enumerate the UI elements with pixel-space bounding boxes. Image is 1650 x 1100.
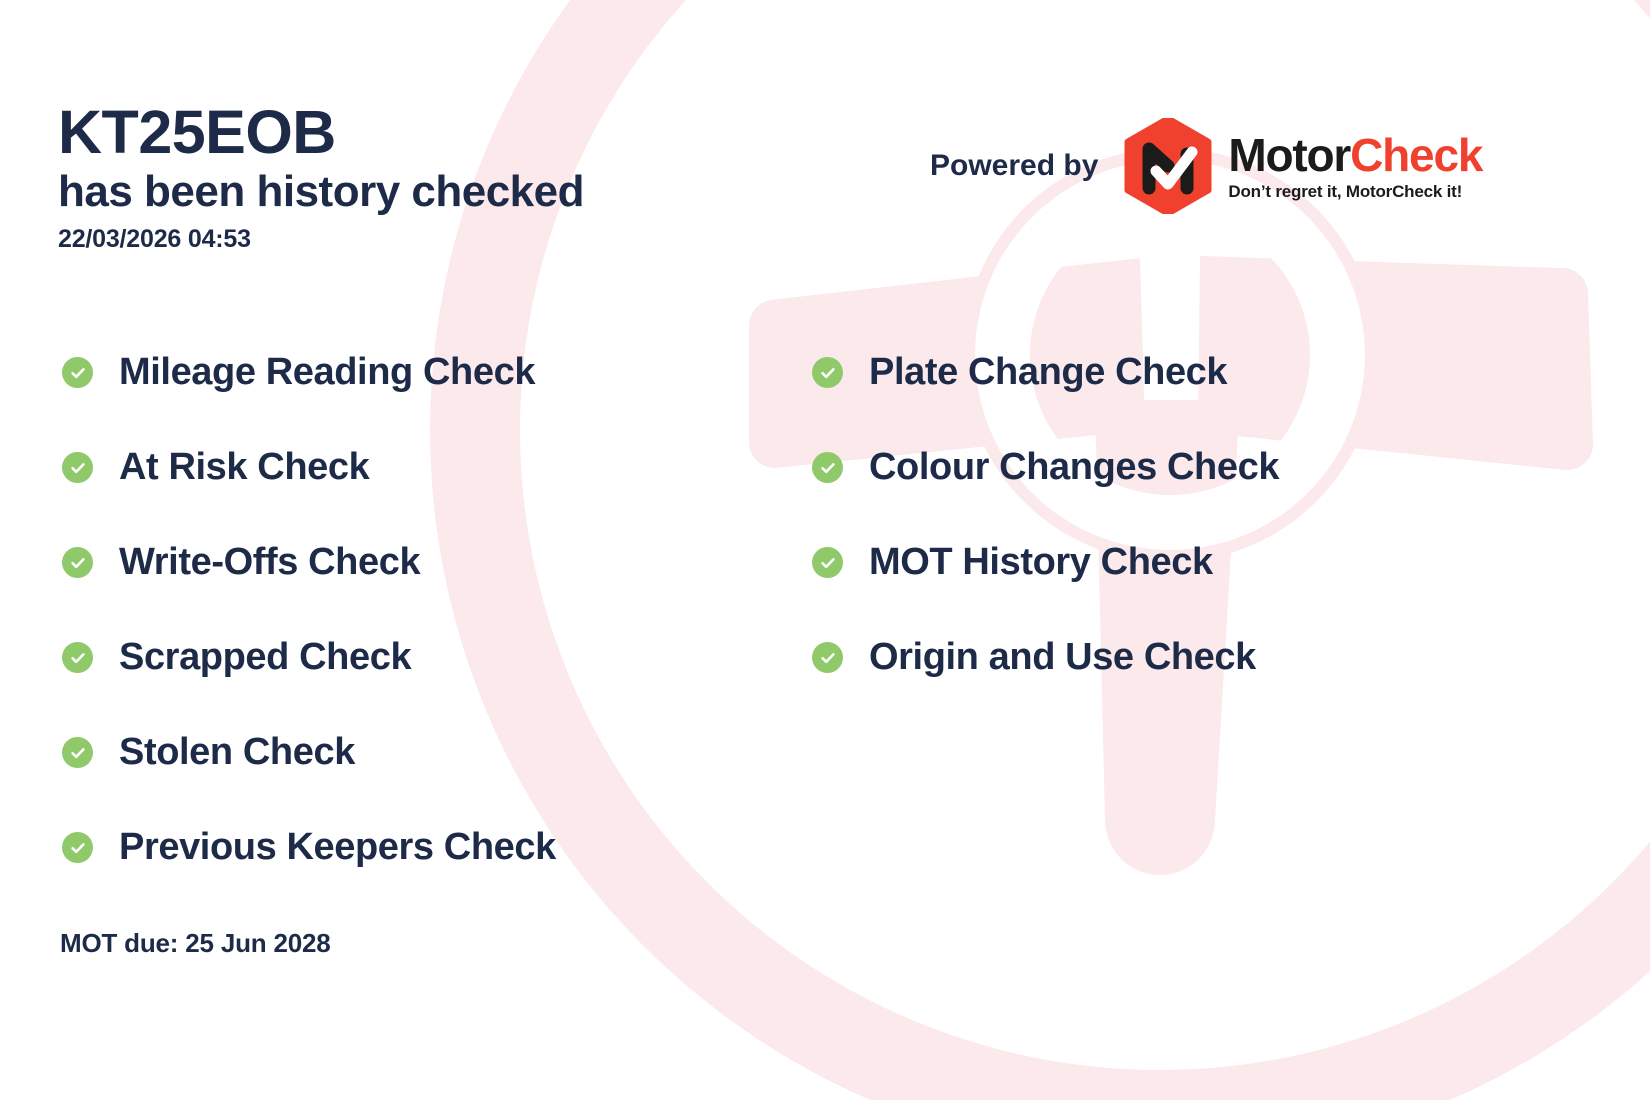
- check-item: Previous Keepers Check: [62, 800, 782, 895]
- checks-column-left: Mileage Reading CheckAt Risk CheckWrite-…: [62, 325, 782, 895]
- check-circle-icon: [62, 452, 93, 483]
- check-item: Plate Change Check: [812, 325, 1512, 420]
- check-item: At Risk Check: [62, 420, 782, 515]
- check-item: Scrapped Check: [62, 610, 782, 705]
- logo-wordmark: MotorCheck: [1228, 132, 1482, 178]
- mot-due-text: MOT due: 25 Jun 2028: [60, 928, 331, 959]
- wordmark-check: Check: [1350, 129, 1482, 181]
- logo-text: MotorCheck Don’t regret it, MotorCheck i…: [1228, 132, 1482, 200]
- check-item: MOT History Check: [812, 515, 1512, 610]
- check-item-label: Origin and Use Check: [869, 636, 1256, 679]
- check-circle-icon: [812, 357, 843, 388]
- check-circle-icon: [62, 357, 93, 388]
- powered-by-block: Powered by MotorCheck Don’t regret it, M…: [930, 118, 1482, 214]
- check-item: Colour Changes Check: [812, 420, 1512, 515]
- check-item-label: Colour Changes Check: [869, 446, 1279, 489]
- check-item: Write-Offs Check: [62, 515, 782, 610]
- check-circle-icon: [62, 832, 93, 863]
- motorcheck-logo[interactable]: MotorCheck Don’t regret it, MotorCheck i…: [1124, 118, 1482, 214]
- check-item-label: Write-Offs Check: [119, 541, 420, 584]
- registration-plate: KT25EOB: [58, 100, 584, 164]
- check-circle-icon: [812, 547, 843, 578]
- report-timestamp: 22/03/2026 04:53: [58, 225, 584, 254]
- registration-block: KT25EOB has been history checked 22/03/2…: [58, 100, 584, 254]
- wordmark-motor: Motor: [1228, 129, 1350, 181]
- registration-subtitle: has been history checked: [58, 166, 584, 219]
- vehicle-history-check-card: KT25EOB has been history checked 22/03/2…: [0, 0, 1650, 1100]
- check-circle-icon: [812, 452, 843, 483]
- check-item-label: At Risk Check: [119, 446, 369, 489]
- motorcheck-hexagon-logo-icon: [1124, 118, 1212, 214]
- check-circle-icon: [62, 642, 93, 673]
- check-item-label: Mileage Reading Check: [119, 351, 535, 394]
- check-item-label: Plate Change Check: [869, 351, 1227, 394]
- check-item: Mileage Reading Check: [62, 325, 782, 420]
- check-item-label: Previous Keepers Check: [119, 826, 556, 869]
- check-item-label: Stolen Check: [119, 731, 355, 774]
- check-circle-icon: [62, 547, 93, 578]
- checks-column-right: Plate Change CheckColour Changes CheckMO…: [812, 325, 1512, 705]
- powered-by-label: Powered by: [930, 149, 1098, 183]
- check-circle-icon: [62, 737, 93, 768]
- check-item-label: Scrapped Check: [119, 636, 411, 679]
- check-item-label: MOT History Check: [869, 541, 1213, 584]
- check-circle-icon: [812, 642, 843, 673]
- logo-tagline: Don’t regret it, MotorCheck it!: [1228, 183, 1482, 200]
- check-item: Origin and Use Check: [812, 610, 1512, 705]
- check-item: Stolen Check: [62, 705, 782, 800]
